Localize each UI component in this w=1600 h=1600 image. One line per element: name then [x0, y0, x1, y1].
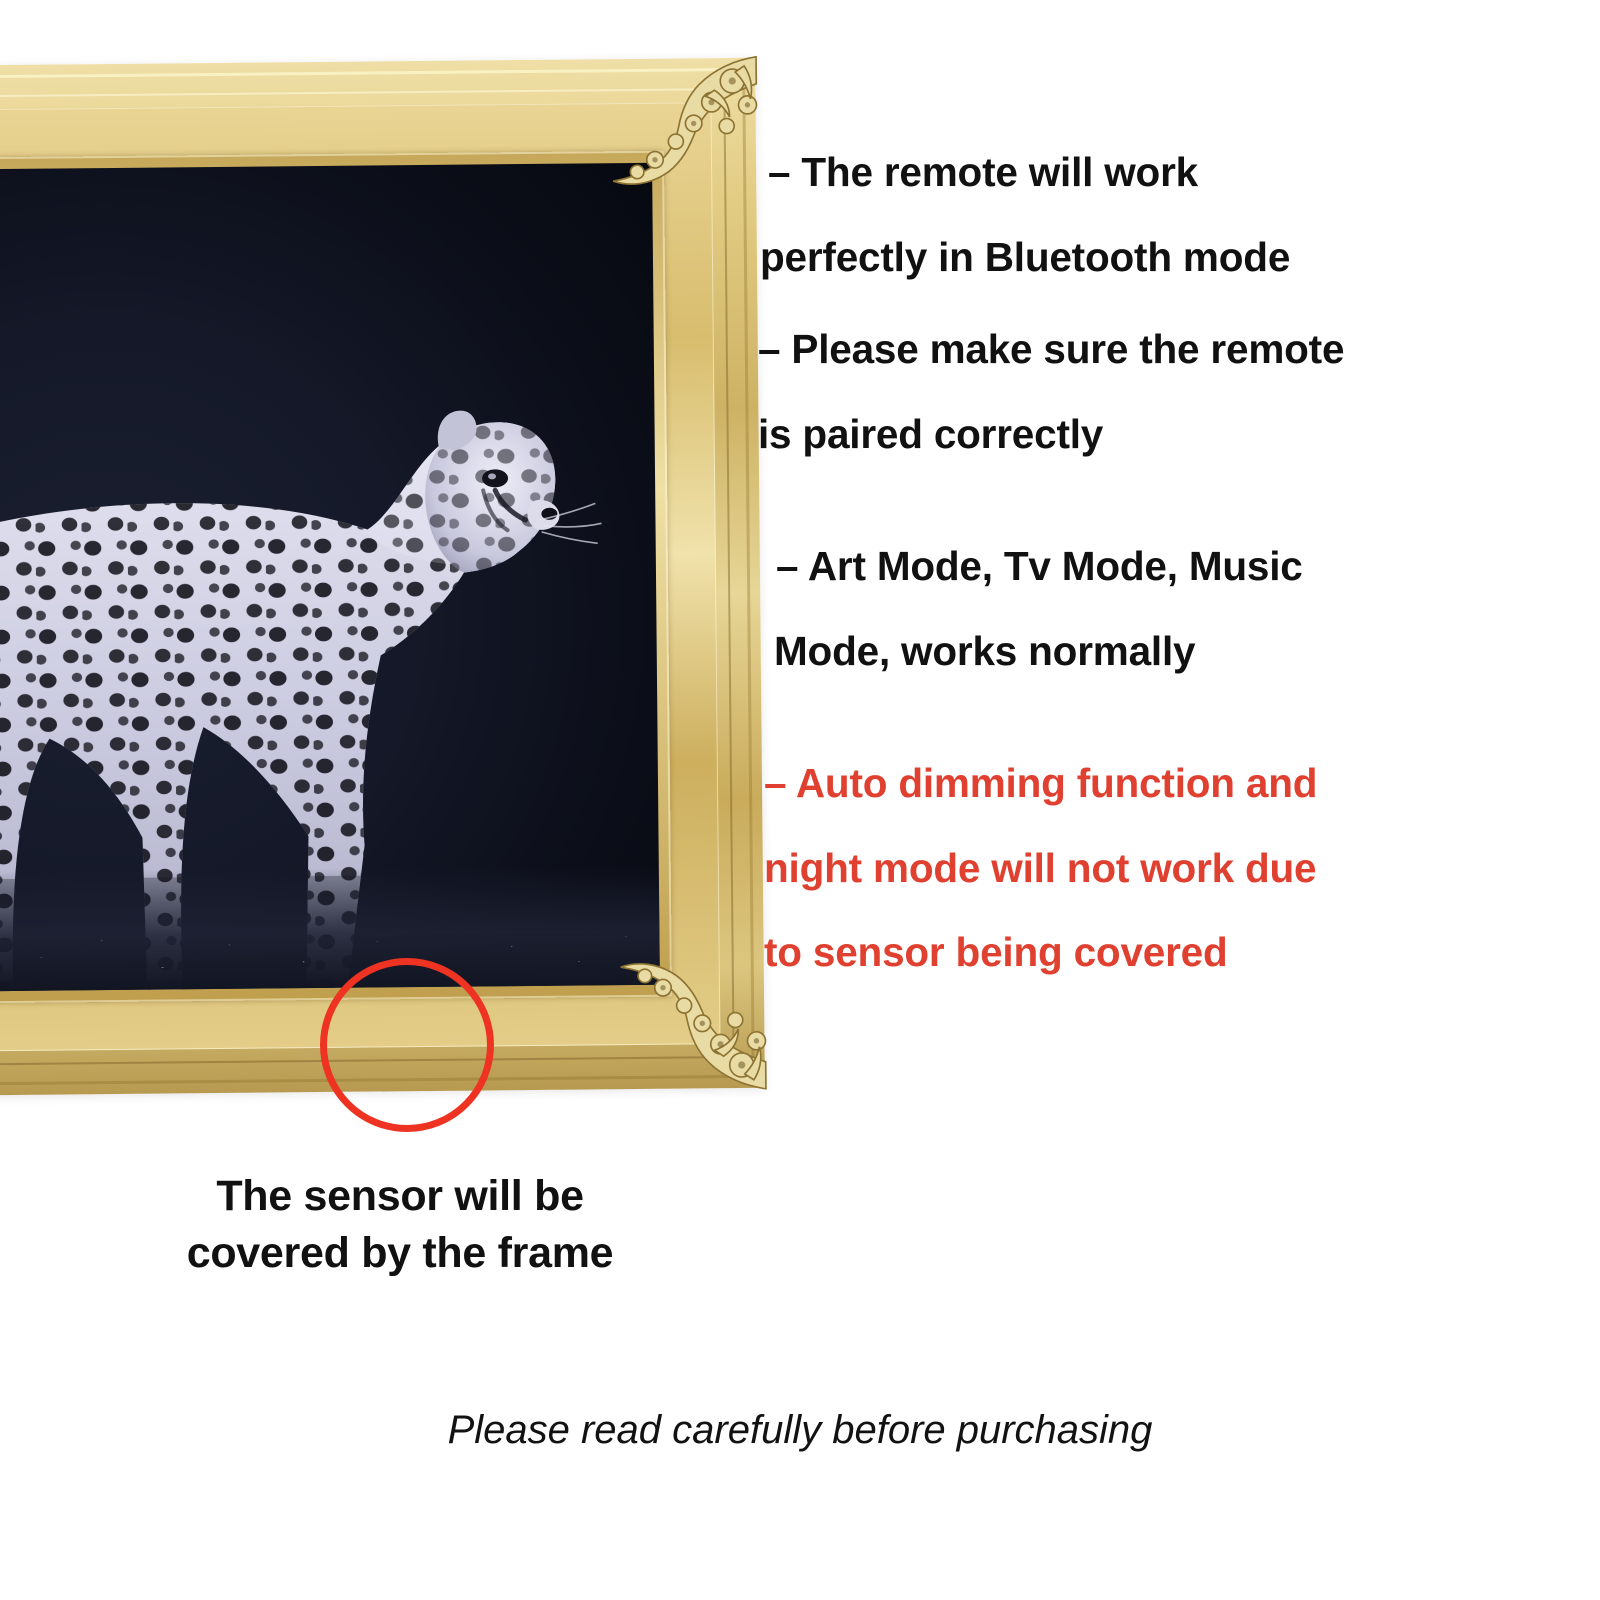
bullet-line-warning: – Auto dimming function and: [764, 763, 1558, 804]
artwork-canvas: [0, 163, 660, 991]
bullet-line: – The remote will work: [768, 152, 1558, 193]
footer-disclaimer: Please read carefully before purchasing: [0, 1408, 1600, 1453]
bullet-remote-paired: – Please make sure the remote is paired …: [758, 329, 1558, 454]
bullet-line: – Please make sure the remote: [758, 329, 1558, 370]
line-gap: [758, 804, 1558, 848]
line-gap: [758, 193, 1558, 237]
bullet-line: Mode, works normally: [774, 631, 1558, 672]
bullet-line-warning: night mode will not work due: [764, 848, 1558, 889]
sensor-location-circle-annotation: [320, 958, 494, 1132]
paragraph-gap: [758, 723, 1558, 763]
sensor-caption-line-2: covered by the frame: [90, 1225, 710, 1282]
line-gap: [758, 587, 1558, 631]
artwork-ground-texture: [0, 875, 660, 991]
bullet-remote-bluetooth: – The remote will work perfectly in Blue…: [758, 152, 1558, 277]
framed-artwork: [0, 58, 765, 1096]
bullet-line-warning: to sensor being covered: [764, 932, 1558, 973]
sensor-caption: The sensor will be covered by the frame: [90, 1168, 710, 1282]
image-canvas: – The remote will work perfectly in Blue…: [0, 0, 1600, 1600]
paragraph-gap: [758, 506, 1558, 546]
line-gap: [758, 370, 1558, 414]
bullet-modes: – Art Mode, Tv Mode, Music Mode, works n…: [758, 546, 1558, 671]
paragraph-gap: [758, 277, 1558, 329]
line-gap: [758, 888, 1558, 932]
specification-notes-list: – The remote will work perfectly in Blue…: [758, 152, 1558, 973]
paragraph-gap: [758, 454, 1558, 506]
sensor-caption-line-1: The sensor will be: [90, 1168, 710, 1225]
bullet-line: is paired correctly: [758, 414, 1558, 455]
bullet-line: – Art Mode, Tv Mode, Music: [776, 546, 1558, 587]
bullet-line: perfectly in Bluetooth mode: [760, 237, 1558, 278]
paragraph-gap: [758, 671, 1558, 723]
bullet-auto-dimming-warning: – Auto dimming function and night mode w…: [758, 763, 1558, 973]
